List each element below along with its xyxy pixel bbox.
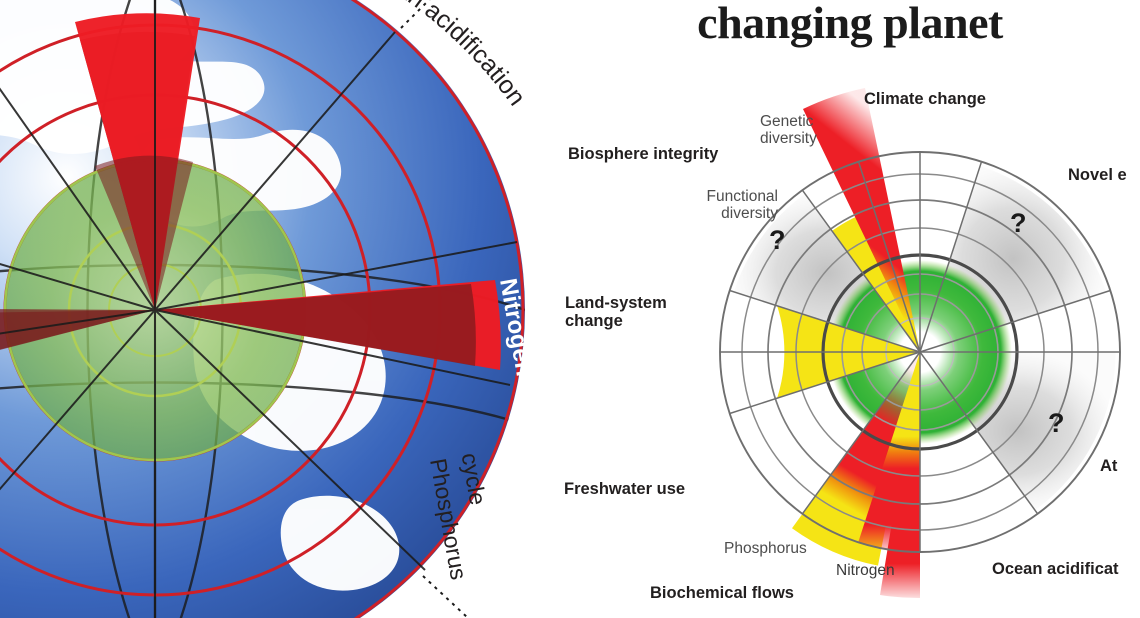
grid-spokes: [720, 152, 1120, 552]
unknown-marker-functional-diversity: ?: [769, 225, 786, 256]
label-genetic-diversity: Genetic diversity: [760, 113, 817, 148]
nitrogen-callout-line2: cycle: [528, 270, 560, 334]
label-climate-change: Climate change: [864, 90, 986, 108]
unknown-marker-novel-entities: ?: [1010, 208, 1027, 239]
label-land-system-change: Land-system change: [565, 294, 667, 331]
unknown-marker-atmospheric-aerosols: ?: [1048, 408, 1065, 439]
label-functional-diversity: Functional diversity: [660, 188, 778, 223]
globe-stage: Climate change Ocean acidification Strat…: [0, 0, 560, 618]
figure-root: Climate change Ocean acidification Strat…: [0, 0, 1140, 618]
phosphorus-callout: Phosphorus cycle: [425, 451, 503, 582]
label-phosphorus: Phosphorus: [724, 540, 807, 557]
label-freshwater-use: Freshwater use: [564, 480, 685, 498]
right-wheel-figure: changing planet: [560, 0, 1140, 618]
left-globe-figure: Climate change Ocean acidification Strat…: [0, 0, 560, 618]
page-title: changing planet: [560, 0, 1140, 49]
label-nitrogen: Nitrogen: [836, 562, 895, 579]
label-biochemical-flows: Biochemical flows: [650, 584, 794, 602]
label-ocean-acidification: Ocean acidificat: [992, 560, 1119, 578]
wheel-group: [720, 88, 1120, 598]
label-atmospheric-aerosol-loading: At: [1100, 457, 1117, 475]
label-biosphere-integrity: Biosphere integrity: [568, 145, 718, 163]
label-novel-entities: Novel e: [1068, 166, 1127, 184]
globe-svg: Climate change Ocean acidification Strat…: [0, 0, 560, 618]
